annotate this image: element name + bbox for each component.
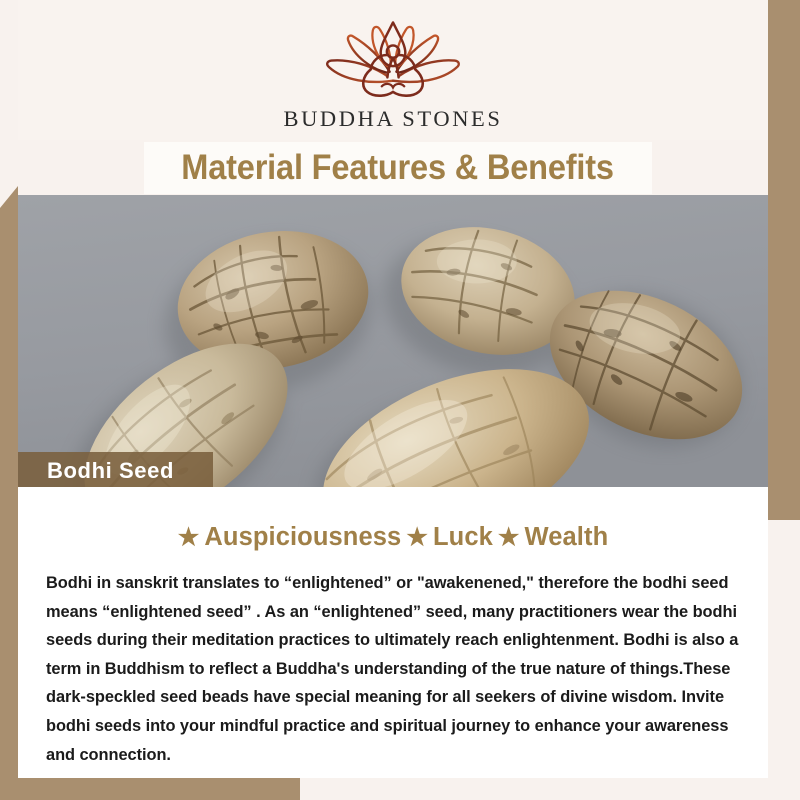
- brand-header: BUDDHA STONES: [18, 0, 768, 140]
- frame-band-right: [768, 0, 800, 520]
- frame-band-left: [0, 186, 18, 800]
- benefit-auspiciousness: Auspiciousness: [204, 523, 401, 551]
- benefit-luck: Luck: [433, 523, 493, 551]
- brand-name: BUDDHA STONES: [283, 106, 502, 132]
- star-icon: ★: [178, 524, 200, 551]
- benefit-wealth: Wealth: [525, 523, 609, 551]
- page-title: Material Features & Benefits: [182, 148, 615, 188]
- title-banner: Material Features & Benefits: [144, 142, 652, 194]
- description-paragraph: Bodhi in sanskrit translates to “enlight…: [44, 569, 742, 769]
- frame-notch-left: [0, 186, 18, 208]
- infographic-page: BUDDHA STONES Material Features & Benefi…: [0, 0, 800, 800]
- benefits-headline: ★Auspiciousness★Luck★Wealth: [44, 523, 742, 552]
- star-icon: ★: [498, 524, 520, 551]
- bodhi-seeds-photo: [18, 195, 768, 487]
- description-panel: ★Auspiciousness★Luck★Wealth Bodhi in san…: [18, 487, 768, 778]
- frame-band-bottom-left: [0, 778, 300, 800]
- seed-name-label: Bodhi Seed: [18, 458, 174, 484]
- seed-name-banner: Bodhi Seed: [18, 452, 213, 489]
- star-icon: ★: [406, 524, 428, 551]
- lotus-meditation-icon: [309, 18, 477, 100]
